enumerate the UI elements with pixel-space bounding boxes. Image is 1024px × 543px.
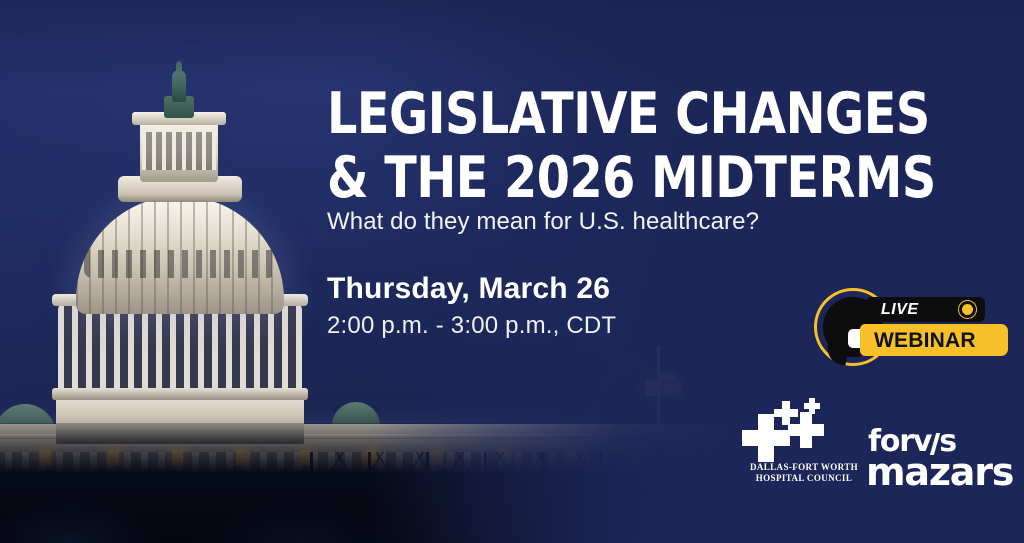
dfw-line-1: DALLAS-FORT WORTH [730,462,878,473]
webinar-label: WEBINAR [874,329,976,353]
broadcast-dot-icon [962,304,973,315]
medical-cross-icon [809,398,815,414]
event-time: 2:00 p.m. - 3:00 p.m., CDT [327,312,616,340]
mazars-wordmark: mazars [866,450,1013,494]
dfw-hospital-council-logo: DALLAS-FORT WORTH HOSPITAL COUNCIL [730,400,878,492]
medical-cross-icon [782,401,790,425]
medical-cross-icon [800,412,812,448]
webinar-promo-banner: LEGISLATIVE CHANGES & THE 2026 MIDTERMS … [0,0,1024,543]
dfw-line-2: HOSPITAL COUNCIL [730,473,878,484]
dome-windows [84,250,276,278]
live-label: LIVE [881,301,919,319]
page-title: LEGISLATIVE CHANGES & THE 2026 MIDTERMS [327,82,936,210]
live-webinar-badge: LIVE WEBINAR [812,286,1008,370]
dfw-logo-wordmark: DALLAS-FORT WORTH HOSPITAL COUNCIL [730,462,878,484]
subtitle: What do they mean for U.S. healthcare? [327,208,759,236]
event-date: Thursday, March 26 [327,272,610,306]
headline-line-1: LEGISLATIVE CHANGES [327,82,936,146]
dome-peristyle [58,302,302,394]
webinar-bar: WEBINAR [860,324,1008,356]
live-bar: LIVE [867,297,985,322]
medical-cross-icon [758,414,774,462]
statue-of-freedom [172,70,186,102]
headline-line-2: & THE 2026 MIDTERMS [327,146,936,210]
forvis-mazars-logo: forvs mazars [868,424,1008,490]
dome-tholos [140,122,218,182]
